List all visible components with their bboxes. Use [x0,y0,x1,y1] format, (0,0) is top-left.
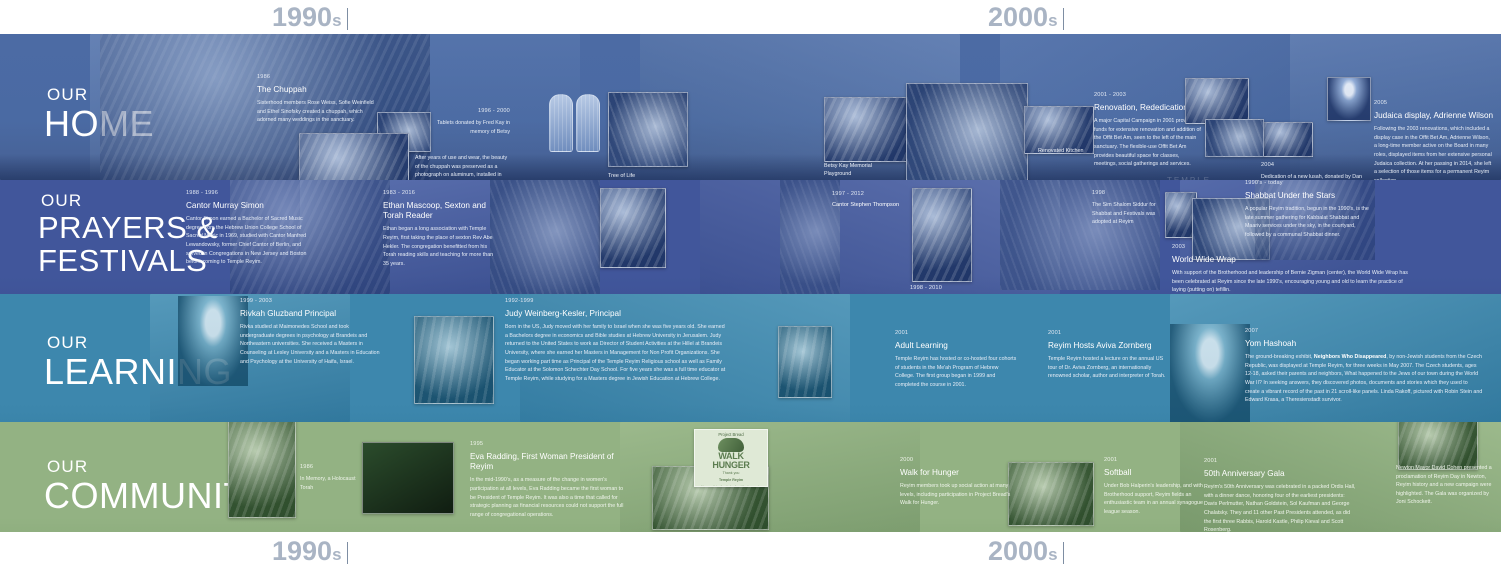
entry-body: Born in the US, Judy moved with her fami… [505,323,727,383]
entry-title: Softball [1104,468,1216,478]
caption-renovated-kitchen: Renovated Kitchen [1038,147,1084,155]
entry-date: 1983 - 2016 [383,190,495,197]
decade-number: 1990 [272,536,332,566]
photo-goldweitz-chapel [906,83,1028,180]
entry-judaica-display: 2005 Judaica display, Adrienne Wilson Fo… [1374,100,1494,180]
entry-body: With support of the Brotherhood and lead… [1172,269,1412,294]
entry-body: In Memory, a Holocaust Torah [300,475,360,492]
photo-eva-radding [362,442,454,514]
entry-body: Reyim's 50th Anniversary was celebrated … [1204,483,1356,532]
entry-title: Rivkah Gluzband Principal [240,309,380,319]
entry-title: Ethan Mascoop, Sexton and Torah Reader [383,201,495,222]
entry-lusah-dedication: 2004 Dedication of a new lusah, donated … [1261,162,1371,180]
entry-date: 1990's - today [1245,180,1371,187]
decade-tick [347,8,348,30]
entry-date: 2003 [1172,244,1472,251]
entry-world-wide-wrap: 2003 World Wide Wrap With support of the… [1172,244,1472,294]
shoe-icon [718,438,744,452]
entry-date: 1986 [257,74,382,81]
entry-sim-shalom-siddur: 1998 The Sim Shalom Siddur for Shabbat a… [1092,190,1174,227]
entry-title: Reyim Hosts Aviva Zornberg [1048,341,1170,351]
entry-cantor-murray-simon: 1988 - 1996 Cantor Murray Simon Cantor S… [186,190,314,267]
entry-date: 2001 [1204,458,1356,465]
entry-date: 1986 [300,464,360,471]
poster-thanks: Thank you [695,471,767,476]
decade-suffix: s [1048,545,1057,564]
tablet-left [549,94,573,152]
entry-body: Newton Mayor David Cohen presented a pro… [1396,464,1498,507]
poster-org-line: Project Bread [695,430,767,437]
entry-date: 1992-1999 [505,298,727,305]
decade-ruler-bottom: 1990s 2000s [0,532,1501,566]
tablet-right [576,94,600,152]
decade-tick [347,542,348,564]
entry-title: Yom Hashoah [1245,339,1483,349]
entry-body: Under Bob Halperin's leadership, and wit… [1104,482,1216,516]
entry-title: Cantor Murray Simon [186,201,314,211]
entry-body: The Sim Shalom Siddur for Shabbat and Fe… [1092,201,1174,227]
entry-date: 1995 [470,441,625,448]
photo-gala-cake [1398,422,1478,470]
entry-title: Walk for Hunger [900,468,1012,478]
decade-ruler-top: 1990s 2000s [0,0,1501,34]
caption-tree-of-life: Tree of Life [608,172,635,180]
entry-the-chuppah: 1986 The Chuppah Sisterhood members Rose… [257,74,382,125]
poster-temple: Temple Reyim [695,478,767,483]
poster-walk-for-hunger: Project Bread WALK HUNGER Thank you Temp… [694,429,768,487]
decade-number: 1990 [272,2,332,32]
entry-rivkah-gluzband: 1999 - 2003 Rivkah Gluzband Principal Ri… [240,298,380,366]
entry-walk-for-hunger: 2000 Walk for Hunger Reyim members took … [900,457,1012,508]
decade-tick [1063,542,1064,564]
entry-date: 1998 [1092,190,1174,197]
decade-suffix: s [332,545,341,564]
photo-chuppah-canopy [299,133,409,180]
entry-title: The Chuppah [257,85,382,95]
photo-judy-weinberg-kesler [414,316,494,404]
entry-body: Dedication of a new lusah, donated by Da… [1261,173,1371,180]
entry-date: 1999 - 2003 [240,298,380,305]
entry-tablets-donation: 1996 - 2000 Tablets donated by Fred Kay … [420,108,510,136]
section-band-learning: OUR LEARNING 1999 - 2003 Rivkah Gluzband… [0,294,1501,422]
entry-body: In the mid-1990's, as a measure of the c… [470,476,625,519]
entry-ethan-mascoop: 1983 - 2016 Ethan Mascoop, Sexton and To… [383,190,495,268]
entry-chuppah-preservation: After years of use and wear, the beauty … [415,154,510,180]
entry-body: Tablets donated by Fred Kay in memory of… [420,119,510,136]
entry-date: 2001 [1104,457,1216,464]
entry-date: 1997 - 2012 [832,191,932,198]
entry-date: 2004 [1261,162,1371,169]
entry-body: Temple Reyim has hosted or co-hosted fou… [895,355,1017,389]
entry-body: Sisterhood members Rose Weiss, Sofie Wei… [257,99,382,125]
entry-title: Eva Radding, First Woman President of Re… [470,452,625,473]
photo-lusah-dedication [1263,122,1313,157]
body-post: , by non-Jewish students from the Czech … [1245,354,1482,403]
photo-shofar-blowing [490,180,600,294]
section-band-community: OUR COMMUNITY 1986 In Memory, a Holocaus… [0,422,1501,532]
entry-judy-weinberg-kesler: 1992-1999 Judy Weinberg-Kesler, Principa… [505,298,727,383]
photo-torah-reading [600,188,666,268]
decade-suffix: s [1048,11,1057,30]
entry-body: Rivka studied at Maimonedes School and t… [240,323,380,366]
entry-body: Temple Reyim hosted a lecture on the ann… [1048,355,1170,381]
entry-date: 2000 [900,457,1012,464]
entry-body: A major Capital Campaign in 2001 provide… [1094,117,1202,168]
caption-betsy-kay-playground: Betsy Kay Memorial Playground [824,162,899,178]
entry-aviva-zornberg: 2001 Reyim Hosts Aviva Zornberg Temple R… [1048,330,1170,381]
entry-date: 2001 [895,330,1017,337]
photo-sanctuary-interior [1185,78,1249,124]
entry-date: 1998 - 2010 [910,285,1020,292]
entry-adult-learning: 2001 Adult Learning Temple Reyim has hos… [895,330,1017,390]
decade-label-1990s-bottom: 1990s [272,536,348,566]
entry-date: 1988 - 1996 [186,190,314,197]
photo-meah-class [778,326,832,398]
entry-title: Cantor Stephen Thompson [832,202,932,209]
body-emphasis: Neighbors Who Disappeared [1314,354,1386,360]
photo-cantor-thompson-guitar [780,180,840,294]
entry-body: A popular Reyim tradition, begun in the … [1245,205,1371,239]
entry-softball: 2001 Softball Under Bob Halperin's leade… [1104,457,1216,517]
entry-body: Ethan began a long association with Temp… [383,225,495,268]
decade-label-2000s-bottom: 2000s [988,536,1064,566]
entry-title: Adult Learning [895,341,1017,351]
photo-aviva-zornberg-portrait [1170,324,1250,422]
watermark-temple: TEMPLE [1167,176,1211,180]
entry-title: Shabbat Under the Stars [1245,191,1371,201]
entry-date: 2001 [1048,330,1170,337]
decade-label-1990s-top: 1990s [272,2,348,36]
entry-title: 50th Anniversary Gala [1204,469,1356,479]
decade-number: 2000 [988,2,1048,32]
entry-date: 1996 - 2000 [420,108,510,115]
body-pre: The ground-breaking exhibit, [1245,354,1314,360]
entry-mayor-proclamation: Newton Mayor David Cohen presented a pro… [1396,464,1498,507]
entry-title: World Wide Wrap [1172,255,1472,265]
entry-title: Judaica display, Adrienne Wilson [1374,111,1494,121]
entry-title: Judy Weinberg-Kesler, Principal [505,309,727,319]
photo-holocaust-torah [228,422,296,518]
decade-label-2000s-top: 2000s [988,2,1064,36]
entry-body: The ground-breaking exhibit, Neighbors W… [1245,353,1483,404]
decade-suffix: s [332,11,341,30]
decade-number: 2000 [988,536,1048,566]
entry-body: Reyim members took up social action at m… [900,482,1012,508]
photo-bet-am-gathering [1205,119,1264,157]
graphic-stone-tablets [549,94,600,152]
poster-footnote: Your participation helps feed the hungry… [695,485,767,487]
entry-body: After years of use and wear, the beauty … [415,154,510,180]
section-band-home: OUR HOME 1986 The Chuppah Sisterhood mem… [0,34,1501,180]
timeline-canvas: 1990s 2000s OUR HOME 1986 The Chuppah Si… [0,0,1501,566]
photo-tree-of-life [608,92,688,167]
entry-eva-radding: 1995 Eva Radding, First Woman President … [470,441,625,519]
decade-tick [1063,8,1064,30]
photo-softball-team [1008,462,1094,526]
entry-rabbi-scott-rosenberg: 1998 - 2010 Rabbi Scott Rosenberg [910,285,1020,294]
photo-adrienne-wilson [1327,77,1371,121]
entry-holocaust-torah: 1986 In Memory, a Holocaust Torah [300,464,360,492]
entry-yom-hashoah: 2007 Yom Hashoah The ground-breaking exh… [1245,328,1483,405]
entry-cantor-stephen-thompson: 1997 - 2012 Cantor Stephen Thompson [832,191,932,213]
photo-betsy-kay-playground [824,97,914,162]
entry-body: Cantor Simon earned a Bachelor of Sacred… [186,215,314,266]
entry-date: 2007 [1245,328,1483,335]
section-band-prayers: OUR PRAYERS & FESTIVALS 1988 - 1996 Cant… [0,180,1501,294]
entry-shabbat-under-stars: 1990's - today Shabbat Under the Stars A… [1245,180,1371,240]
photo-rivkah-gluzband [178,296,248,386]
entry-50th-anniversary-gala: 2001 50th Anniversary Gala Reyim's 50th … [1204,458,1356,532]
poster-headline-2: HUNGER [695,461,767,470]
entry-date: 2005 [1374,100,1494,107]
entry-body: Following the 2003 renovations, which in… [1374,125,1494,180]
